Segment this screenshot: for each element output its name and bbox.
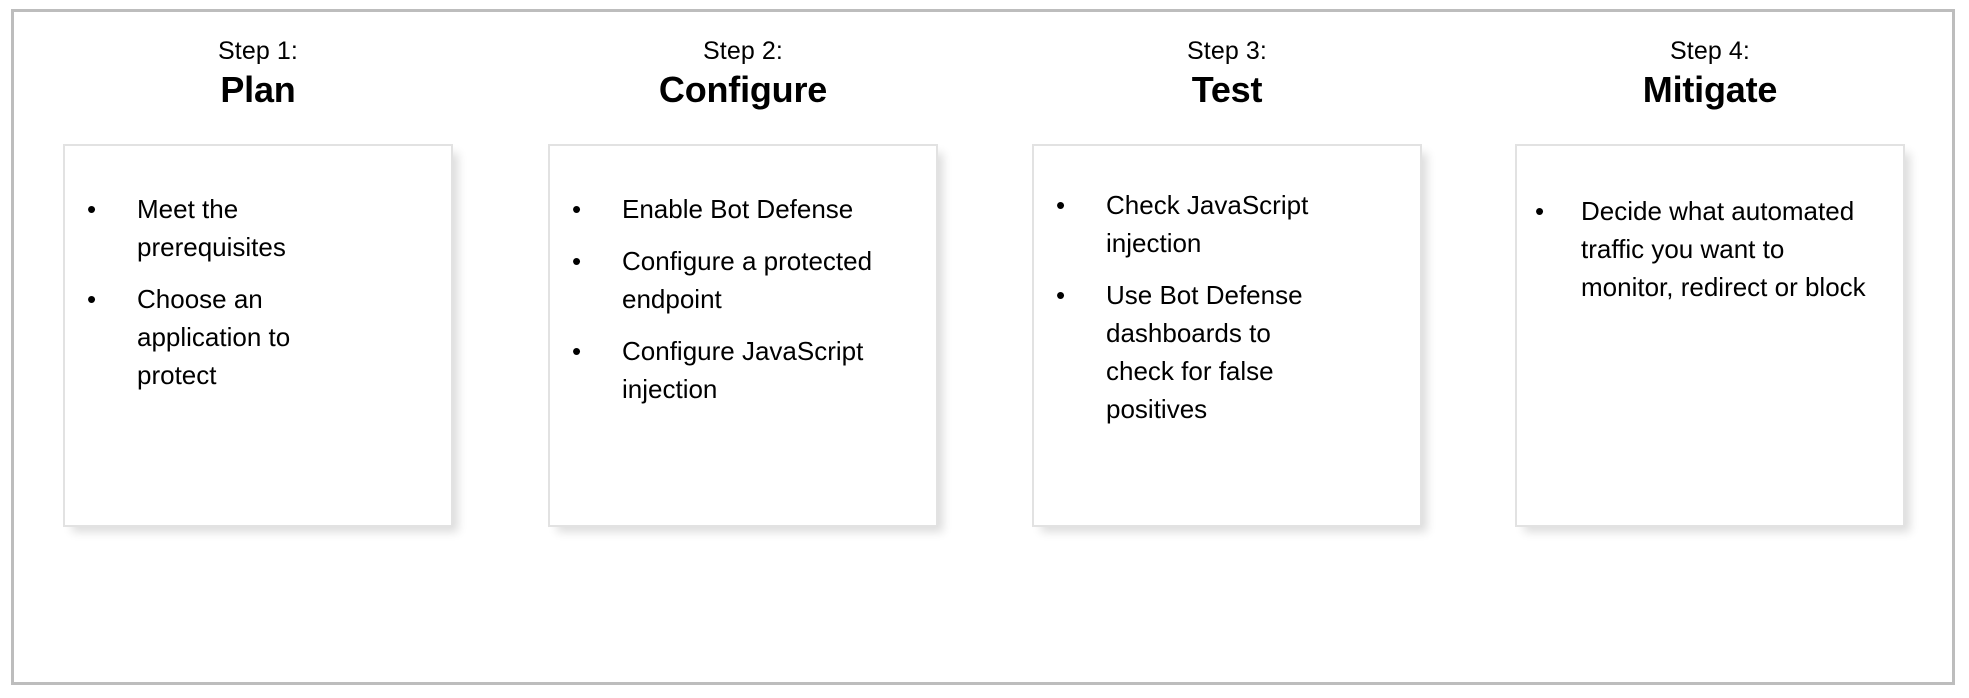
bullet-text: Check JavaScript injection (1106, 186, 1328, 262)
list-item: • Meet the prerequisites (81, 190, 433, 266)
step-3-card: • Check JavaScript injection • Use Bot D… (1032, 144, 1422, 527)
bullet-text: Meet the prerequisites (137, 190, 315, 266)
bullet-text: Decide what automated traffic you want t… (1581, 192, 1869, 306)
step-1-eyebrow: Step 1: (218, 36, 298, 67)
bullet-icon: • (566, 242, 622, 280)
bullet-icon: • (81, 190, 137, 228)
list-item: • Choose an application to protect (81, 280, 433, 394)
bullet-text: Enable Bot Defense (622, 190, 878, 228)
step-2-card: • Enable Bot Defense • Configure a prote… (548, 144, 938, 527)
step-2-title: Configure (659, 67, 827, 112)
step-2-eyebrow: Step 2: (703, 36, 783, 67)
step-3-eyebrow: Step 3: (1187, 36, 1267, 67)
list-item: • Configure a protected endpoint (566, 242, 918, 318)
bullet-icon: • (1529, 192, 1581, 230)
list-item: • Use Bot Defense dashboards to check fo… (1050, 276, 1402, 428)
steps-row: Step 1: Plan • Meet the prerequisites • … (14, 12, 1952, 682)
list-item: • Decide what automated traffic you want… (1529, 192, 1885, 306)
step-column-4: Step 4: Mitigate • Decide what automated… (1514, 36, 1906, 527)
step-4-eyebrow: Step 4: (1670, 36, 1750, 67)
bullet-icon: • (1050, 276, 1106, 314)
step-4-card: • Decide what automated traffic you want… (1515, 144, 1905, 527)
bullet-icon: • (566, 332, 622, 370)
step-4-bullet-list: • Decide what automated traffic you want… (1529, 192, 1885, 306)
step-1-title: Plan (220, 67, 295, 112)
bullet-icon: • (566, 190, 622, 228)
bullet-text: Configure JavaScript injection (622, 332, 878, 408)
list-item: • Enable Bot Defense (566, 190, 918, 228)
bullet-icon: • (1050, 186, 1106, 224)
step-4-title: Mitigate (1643, 67, 1777, 112)
step-column-1: Step 1: Plan • Meet the prerequisites • … (62, 36, 454, 527)
bullet-text: Use Bot Defense dashboards to check for … (1106, 276, 1328, 428)
step-column-2: Step 2: Configure • Enable Bot Defense •… (547, 36, 939, 527)
step-column-3: Step 3: Test • Check JavaScript injectio… (1031, 36, 1423, 527)
step-3-bullet-list: • Check JavaScript injection • Use Bot D… (1050, 186, 1402, 428)
step-2-bullet-list: • Enable Bot Defense • Configure a prote… (566, 190, 918, 408)
list-item: • Check JavaScript injection (1050, 186, 1402, 262)
bullet-text: Configure a protected endpoint (622, 242, 878, 318)
step-1-bullet-list: • Meet the prerequisites • Choose an app… (81, 190, 433, 394)
list-item: • Configure JavaScript injection (566, 332, 918, 408)
bullet-text: Choose an application to protect (137, 280, 315, 394)
bullet-icon: • (81, 280, 137, 318)
diagram-frame: Step 1: Plan • Meet the prerequisites • … (11, 9, 1955, 685)
step-3-title: Test (1192, 67, 1263, 112)
step-1-card: • Meet the prerequisites • Choose an app… (63, 144, 453, 527)
